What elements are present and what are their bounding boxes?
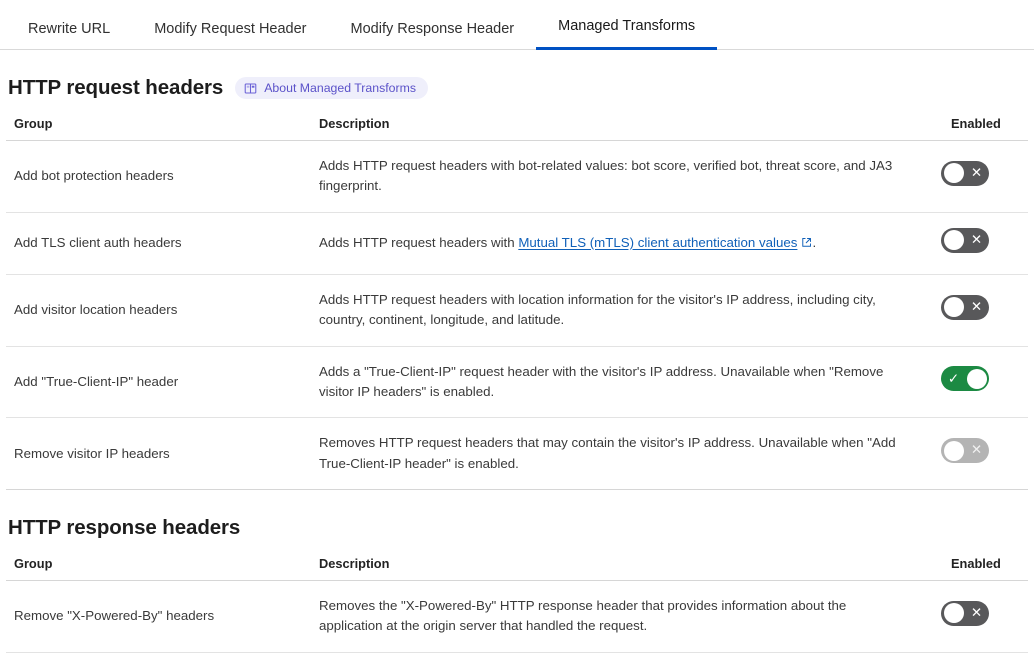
column-header-enabled: Enabled [927,116,1028,141]
row-description: Adds HTTP request headers with bot-relat… [319,141,927,213]
external-link-icon[interactable] [801,234,812,254]
row-group-label: Add "True-Client-IP" header [6,346,319,418]
toggle-add-visitor-location-headers[interactable]: ✕ [941,295,989,320]
row-description: Removes HTTP request headers that may co… [319,418,927,490]
cross-icon: ✕ [964,601,989,626]
mtls-client-auth-link[interactable]: Mutual TLS (mTLS) client authentication … [518,235,797,250]
row-group-label: Add bot protection headers [6,141,319,213]
toggle-knob [944,297,964,317]
cross-icon: ✕ [964,228,989,253]
toggle-add-tls-client-auth-headers[interactable]: ✕ [941,228,989,253]
row-description: Removes the "X-Powered-By" HTTP response… [319,581,927,653]
table-header-row: Group Description Enabled [6,116,1028,141]
tab-bar: Rewrite URL Modify Request Header Modify… [0,0,1034,50]
toggle-knob [944,230,964,250]
about-managed-transforms-badge[interactable]: About Managed Transforms [235,77,428,99]
row-description: Adds a "True-Client-IP" request header w… [319,346,927,418]
row-group-label: Add visitor location headers [6,275,319,347]
toggle-knob [944,603,964,623]
row-enabled-cell: ✓ [927,346,1028,418]
table-row: Add visitor location headers Adds HTTP r… [6,275,1028,347]
row-enabled-cell: ✕ [927,418,1028,490]
cross-icon: ✕ [964,161,989,186]
column-header-group: Group [6,116,319,141]
row-enabled-cell: ✕ [927,275,1028,347]
response-headers-table: Group Description Enabled Remove "X-Powe… [6,556,1028,653]
row-group-label: Remove "X-Powered-By" headers [6,581,319,653]
table-row: Add bot protection headers Adds HTTP req… [6,141,1028,213]
toggle-knob [944,163,964,183]
toggle-add-bot-protection-headers[interactable]: ✕ [941,161,989,186]
row-enabled-cell: ✕ [927,581,1028,653]
request-section-header: HTTP request headers About Managed Trans… [6,76,1028,100]
row-enabled-cell: ✕ [927,141,1028,213]
column-header-enabled: Enabled [927,556,1028,581]
column-header-description: Description [319,116,927,141]
tab-managed-transforms[interactable]: Managed Transforms [536,19,717,51]
table-row: Remove "X-Powered-By" headers Removes th… [6,581,1028,653]
table-row: Add "True-Client-IP" header Adds a "True… [6,346,1028,418]
check-icon: ✓ [941,366,966,391]
toggle-remove-x-powered-by-headers[interactable]: ✕ [941,601,989,626]
request-section-title: HTTP request headers [8,76,223,100]
request-headers-table: Group Description Enabled Add bot protec… [6,116,1028,490]
book-icon [244,82,257,95]
row-group-label: Add TLS client auth headers [6,212,319,274]
row-description: Adds HTTP request headers with Mutual TL… [319,212,927,274]
response-section-title: HTTP response headers [8,516,240,540]
toggle-knob [944,441,964,461]
row-enabled-cell: ✕ [927,212,1028,274]
row-description-suffix: . [812,235,816,250]
toggle-add-true-client-ip-header[interactable]: ✓ [941,366,989,391]
column-header-description: Description [319,556,927,581]
tab-modify-request-header[interactable]: Modify Request Header [132,22,328,51]
toggle-remove-visitor-ip-headers: ✕ [941,438,989,463]
main-content: HTTP request headers About Managed Trans… [0,76,1034,653]
cross-icon: ✕ [964,295,989,320]
table-header-row: Group Description Enabled [6,556,1028,581]
table-row: Remove visitor IP headers Removes HTTP r… [6,418,1028,490]
table-row: Add TLS client auth headers Adds HTTP re… [6,212,1028,274]
tab-modify-response-header[interactable]: Modify Response Header [329,22,537,51]
row-description-prefix: Adds HTTP request headers with [319,235,518,250]
response-section-header: HTTP response headers [6,516,1028,540]
toggle-knob [967,369,987,389]
row-group-label: Remove visitor IP headers [6,418,319,490]
column-header-group: Group [6,556,319,581]
tab-rewrite-url[interactable]: Rewrite URL [6,22,132,51]
row-description: Adds HTTP request headers with location … [319,275,927,347]
cross-icon: ✕ [964,438,989,463]
about-badge-label: About Managed Transforms [264,81,416,95]
